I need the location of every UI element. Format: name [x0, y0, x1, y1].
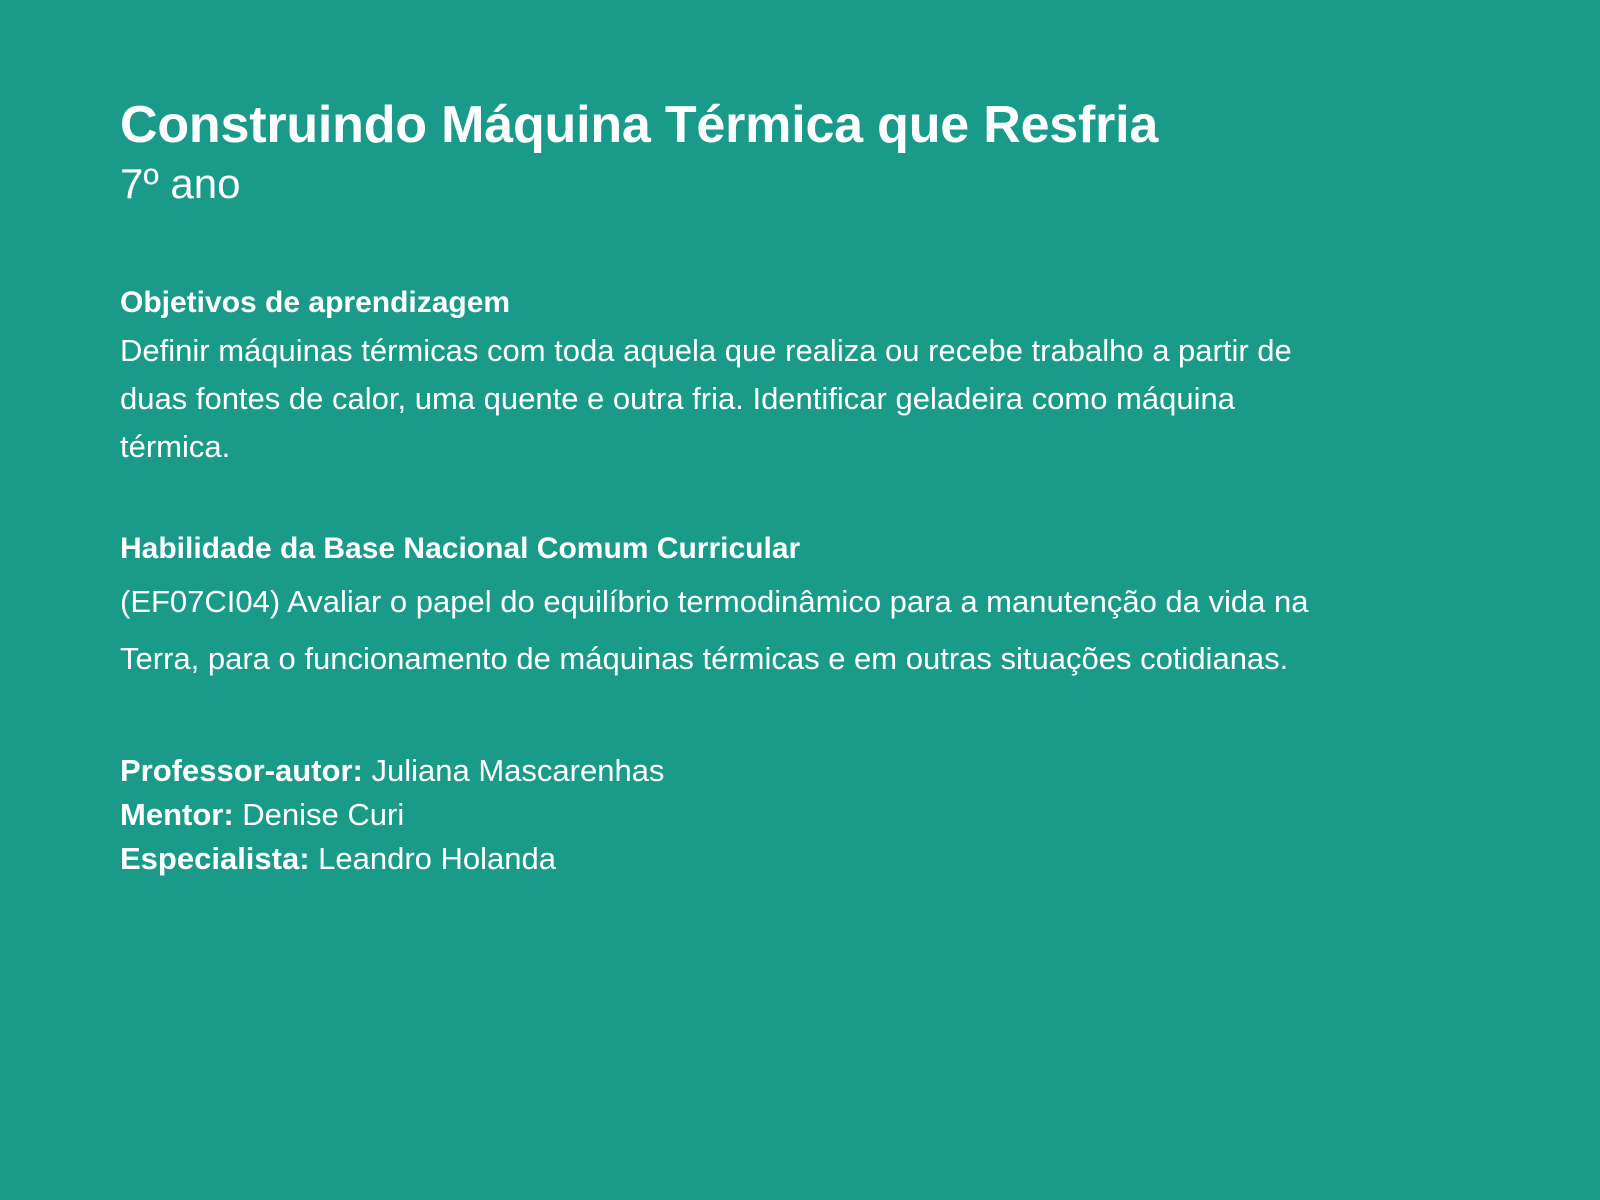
credit-professor-autor: Professor-autor: Juliana Mascarenhas — [120, 749, 1360, 793]
credit-mentor-value: Denise Curi — [234, 797, 405, 832]
credits-section: Professor-autor: Juliana Mascarenhas Men… — [120, 749, 1360, 881]
lesson-title-slide: Construindo Máquina Térmica que Resfria … — [0, 0, 1600, 1200]
title-block: Construindo Máquina Térmica que Resfria … — [120, 95, 1480, 211]
bncc-skill-text: (EF07CI04) Avaliar o papel do equilíbrio… — [120, 573, 1360, 687]
credit-professor-autor-label: Professor-autor: — [120, 753, 363, 788]
credit-professor-autor-value: Juliana Mascarenhas — [363, 753, 665, 788]
learning-objectives-section: Objetivos de aprendizagem Definir máquin… — [120, 283, 1360, 471]
page-title: Construindo Máquina Térmica que Resfria — [120, 95, 1480, 155]
learning-objectives-heading: Objetivos de aprendizagem — [120, 283, 1360, 323]
grade-level-subtitle: 7º ano — [120, 157, 1480, 211]
credit-mentor-label: Mentor: — [120, 797, 234, 832]
credit-especialista: Especialista: Leandro Holanda — [120, 837, 1360, 881]
credit-mentor: Mentor: Denise Curi — [120, 793, 1360, 837]
bncc-skill-section: Habilidade da Base Nacional Comum Curric… — [120, 529, 1360, 687]
learning-objectives-text: Definir máquinas térmicas com toda aquel… — [120, 327, 1350, 471]
bncc-skill-heading: Habilidade da Base Nacional Comum Curric… — [120, 529, 1360, 569]
credit-especialista-value: Leandro Holanda — [310, 841, 556, 876]
credit-especialista-label: Especialista: — [120, 841, 310, 876]
